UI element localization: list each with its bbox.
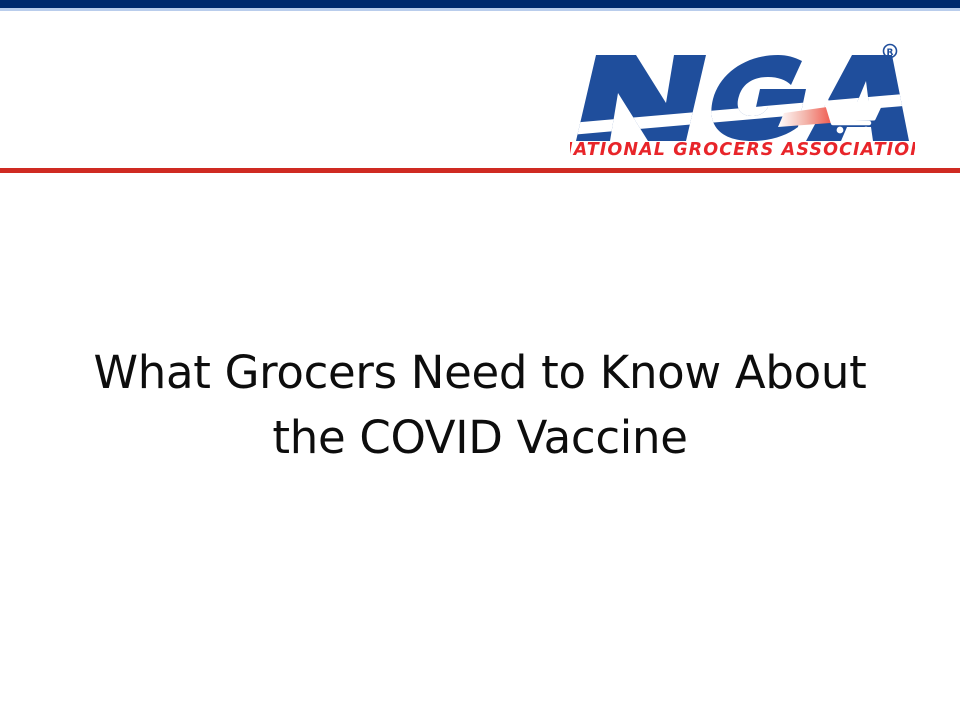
nga-logo: R NATIONAL GROCERS ASSOCIATION bbox=[570, 37, 915, 157]
nga-tagline: NATIONAL GROCERS ASSOCIATION bbox=[570, 140, 915, 157]
nga-wordmark-letters bbox=[570, 37, 915, 157]
shopping-cart-wheels bbox=[837, 127, 870, 134]
registered-trademark-icon: R bbox=[884, 45, 897, 59]
page-title-line-2: the COVID Vaccine bbox=[60, 405, 900, 470]
svg-text:R: R bbox=[887, 48, 894, 58]
header-red-rule bbox=[0, 168, 960, 173]
top-navy-band bbox=[0, 0, 960, 8]
page-title-line-1: What Grocers Need to Know About bbox=[60, 340, 900, 405]
slide-header: R NATIONAL GROCERS ASSOCIATION bbox=[0, 11, 960, 170]
presentation-slide: R NATIONAL GROCERS ASSOCIATION What Groc… bbox=[0, 0, 960, 720]
slide-title: What Grocers Need to Know About the COVI… bbox=[60, 340, 900, 470]
